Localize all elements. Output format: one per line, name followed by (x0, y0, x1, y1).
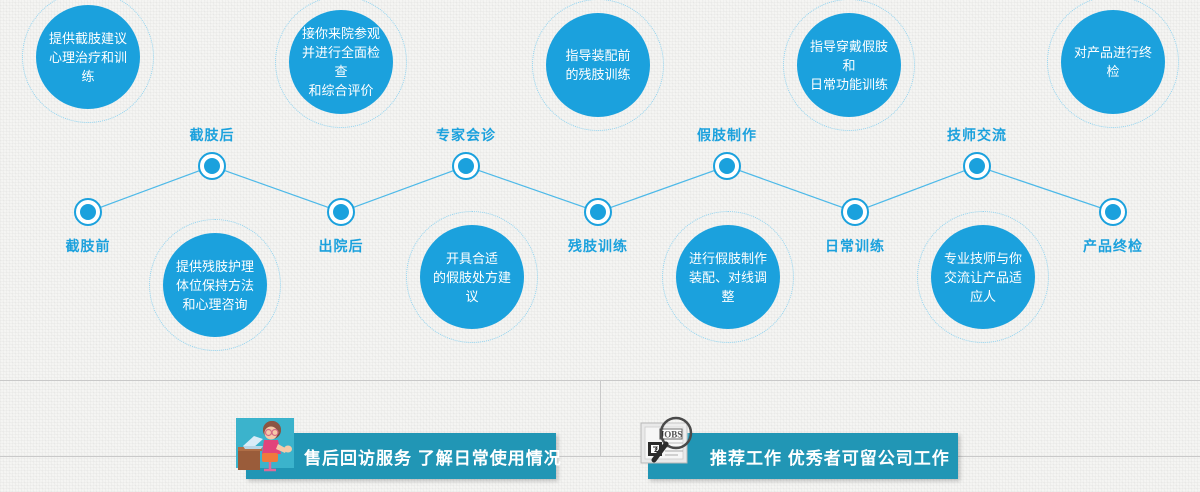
info-bubble-text-4: 指导穿戴假肢和日常功能训练 (797, 37, 901, 94)
info-bubble-line: 提供截肢建议 (46, 29, 130, 48)
info-bubble-3[interactable]: 指导装配前的残肢训练 (546, 13, 650, 117)
timeline-node-5[interactable] (584, 198, 612, 226)
info-bubble-line: 并进行全面检查 (299, 43, 383, 81)
timeline-node-label-3: 出院后 (319, 236, 364, 256)
connector-horizontal (0, 456, 1200, 457)
timeline-node-6[interactable] (713, 152, 741, 180)
info-bubble-line: 接你来院参观 (299, 24, 383, 43)
timeline-node-8[interactable] (963, 152, 991, 180)
service-banner-label-2: 推荐工作 优秀者可留公司工作 (710, 444, 950, 469)
timeline-node-4[interactable] (452, 152, 480, 180)
timeline-node-label-7: 日常训练 (825, 236, 885, 256)
info-bubble-line: 和综合评价 (299, 81, 383, 100)
service-banner-2[interactable]: 推荐工作 优秀者可留公司工作 (648, 433, 958, 479)
info-bubble-line: 开具合适 (430, 249, 514, 268)
info-bubble-4[interactable]: 指导穿戴假肢和日常功能训练 (797, 13, 901, 117)
info-bubble-line: 的残肢训练 (565, 65, 630, 84)
timeline-node-label-1: 截肢前 (66, 236, 111, 256)
timeline-node-label-6: 假肢制作 (697, 125, 757, 145)
timeline-node-label-9: 产品终检 (1083, 236, 1143, 256)
info-bubble-2[interactable]: 接你来院参观并进行全面检查和综合评价 (289, 10, 393, 114)
timeline-node-label-2: 截肢后 (190, 125, 235, 145)
timeline-node-1[interactable] (74, 198, 102, 226)
info-bubble-line: 交流让产品适应人 (941, 268, 1025, 306)
info-bubble-text-2: 接你来院参观并进行全面检查和综合评价 (289, 24, 393, 100)
infographic-page: 截肢前截肢后出院后专家会诊残肢训练假肢制作日常训练技师交流产品终检 提供截肢建议… (0, 0, 1200, 492)
info-bubble-6[interactable]: 提供残肢护理体位保持方法和心理咨询 (163, 233, 267, 337)
info-bubble-text-5: 对产品进行终检 (1061, 43, 1165, 81)
timeline-node-7[interactable] (841, 198, 869, 226)
timeline-node-3[interactable] (327, 198, 355, 226)
info-bubble-line: 装配、对线调整 (686, 268, 770, 306)
info-bubble-line: 进行假肢制作 (686, 249, 770, 268)
info-bubble-text-6: 提供残肢护理体位保持方法和心理咨询 (166, 257, 264, 314)
info-bubble-text-7: 开具合适的假肢处方建议 (420, 249, 524, 306)
treatment-timeline: 截肢前截肢后出院后专家会诊残肢训练假肢制作日常训练技师交流产品终检 提供截肢建议… (0, 0, 1200, 380)
info-bubble-line: 专业技师与你 (941, 249, 1025, 268)
info-bubble-9[interactable]: 专业技师与你交流让产品适应人 (931, 225, 1035, 329)
info-bubble-7[interactable]: 开具合适的假肢处方建议 (420, 225, 524, 329)
info-bubble-line: 指导装配前 (565, 46, 630, 65)
info-bubble-text-8: 进行假肢制作装配、对线调整 (676, 249, 780, 306)
info-bubble-line: 提供残肢护理 (176, 257, 254, 276)
info-bubble-line: 和心理咨询 (176, 295, 254, 314)
info-bubble-text-3: 指导装配前的残肢训练 (555, 46, 640, 84)
info-bubble-line: 的假肢处方建议 (430, 268, 514, 306)
timeline-node-9[interactable] (1099, 198, 1127, 226)
timeline-node-label-5: 残肢训练 (568, 236, 628, 256)
info-bubble-line: 指导穿戴假肢和 (807, 37, 891, 75)
timeline-node-2[interactable] (198, 152, 226, 180)
info-bubble-line: 日常功能训练 (807, 75, 891, 94)
timeline-node-label-4: 专家会诊 (436, 125, 496, 145)
info-bubble-line: 对产品进行终检 (1071, 43, 1155, 81)
info-bubble-5[interactable]: 对产品进行终检 (1061, 10, 1165, 114)
service-banner-label-1: 售后回访服务 了解日常使用情况 (304, 444, 562, 469)
info-bubble-line: 体位保持方法 (176, 276, 254, 295)
info-bubble-8[interactable]: 进行假肢制作装配、对线调整 (676, 225, 780, 329)
service-banner-1[interactable]: 售后回访服务 了解日常使用情况 (246, 433, 556, 479)
info-bubble-text-9: 专业技师与你交流让产品适应人 (931, 249, 1035, 306)
info-bubble-text-1: 提供截肢建议心理治疗和训练 (36, 29, 140, 86)
info-bubble-line: 心理治疗和训练 (46, 48, 130, 86)
connector-vertical (600, 380, 601, 456)
info-bubble-1[interactable]: 提供截肢建议心理治疗和训练 (36, 5, 140, 109)
timeline-node-label-8: 技师交流 (947, 125, 1007, 145)
